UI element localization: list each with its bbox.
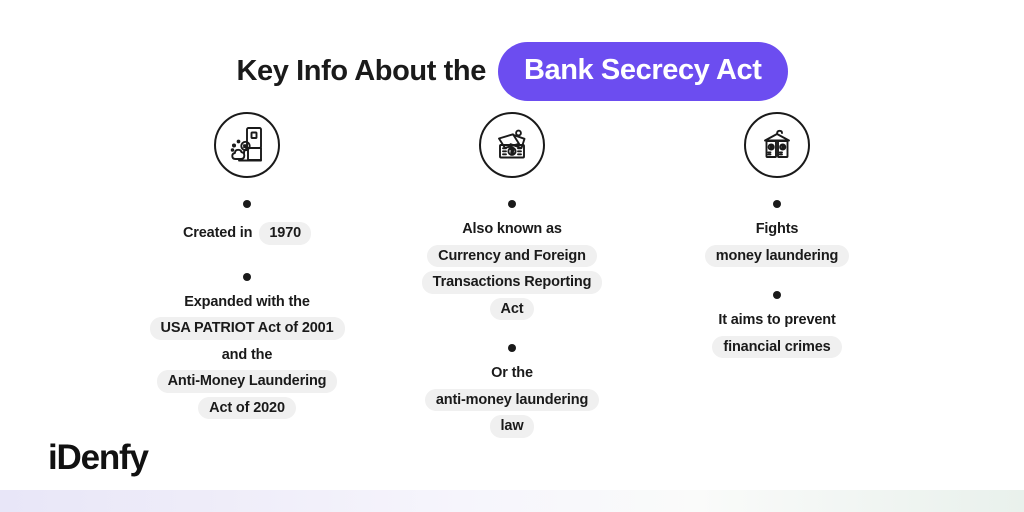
bullet-dot-icon bbox=[773, 200, 781, 208]
info-block: Expanded with the USA PATRIOT Act of 200… bbox=[115, 273, 380, 420]
bullet-dot-icon bbox=[508, 200, 516, 208]
info-line-highlighted: USA PATRIOT Act of 2001 bbox=[150, 317, 345, 340]
info-line: It aims to prevent bbox=[716, 309, 837, 332]
info-block: Also known as Currency and Foreign Trans… bbox=[380, 200, 645, 320]
info-block: Or the anti-money laundering law bbox=[380, 344, 645, 438]
bullet-wrap bbox=[115, 273, 380, 281]
info-line-highlighted: Act bbox=[490, 298, 535, 321]
bullet-wrap bbox=[645, 200, 910, 208]
bullet-dot-icon bbox=[508, 344, 516, 352]
info-line: and the bbox=[220, 344, 275, 367]
info-line-highlighted: Act of 2020 bbox=[198, 397, 296, 420]
money-on-hanger-icon bbox=[744, 112, 810, 178]
info-lines: Or the anti-money laundering law bbox=[425, 362, 599, 438]
bullet-wrap bbox=[380, 200, 645, 208]
info-line-highlighted: anti-money laundering bbox=[425, 389, 599, 412]
info-line: Fights bbox=[754, 218, 801, 241]
info-line: Expanded with the bbox=[182, 291, 312, 314]
year-chip: 1970 bbox=[259, 222, 311, 245]
info-lines: Expanded with the USA PATRIOT Act of 200… bbox=[150, 291, 345, 420]
column-created: Created in 1970 Expanded with the USA PA… bbox=[115, 112, 380, 419]
columns-container: Created in 1970 Expanded with the USA PA… bbox=[0, 112, 1024, 438]
bullet-wrap bbox=[645, 291, 910, 299]
info-line-highlighted: Currency and Foreign bbox=[427, 245, 597, 268]
info-lines: It aims to prevent financial crimes bbox=[712, 309, 841, 358]
info-line-highlighted: Anti-Money Laundering bbox=[157, 370, 338, 393]
info-line: Created in 1970 bbox=[181, 218, 313, 249]
banknotes-cash-icon bbox=[479, 112, 545, 178]
info-line: Or the bbox=[489, 362, 535, 385]
info-line-highlighted: money laundering bbox=[705, 245, 849, 268]
info-block: It aims to prevent financial crimes bbox=[645, 291, 910, 358]
bullet-dot-icon bbox=[243, 200, 251, 208]
info-block: Created in 1970 bbox=[115, 200, 380, 249]
info-lines: Created in 1970 bbox=[181, 218, 313, 249]
info-line-highlighted: Transactions Reporting bbox=[422, 271, 603, 294]
stamp-document-icon bbox=[214, 112, 280, 178]
idenfy-logo: iDenfy bbox=[48, 440, 148, 475]
title-highlight-pill: Bank Secrecy Act bbox=[498, 42, 788, 101]
bullet-wrap bbox=[115, 200, 380, 208]
info-line: Also known as bbox=[460, 218, 564, 241]
info-block: Fights money laundering bbox=[645, 200, 910, 267]
column-fights-money-laundering: Fights money laundering It aims to preve… bbox=[645, 112, 910, 358]
info-lines: Fights money laundering bbox=[705, 218, 849, 267]
title-plain-text: Key Info About the bbox=[236, 57, 497, 86]
bullet-dot-icon bbox=[243, 273, 251, 281]
page-title: Key Info About the Bank Secrecy Act bbox=[0, 42, 1024, 101]
info-line-highlighted: financial crimes bbox=[712, 336, 841, 359]
bullet-dot-icon bbox=[773, 291, 781, 299]
infographic-canvas: Key Info About the Bank Secrecy Act bbox=[0, 0, 1024, 512]
bottom-gradient-strip bbox=[0, 490, 1024, 512]
bullet-wrap bbox=[380, 344, 645, 352]
info-lines: Also known as Currency and Foreign Trans… bbox=[422, 218, 603, 320]
column-also-known-as: Also known as Currency and Foreign Trans… bbox=[380, 112, 645, 438]
info-line-text: Created in bbox=[183, 226, 252, 241]
info-line-highlighted: law bbox=[490, 415, 535, 438]
